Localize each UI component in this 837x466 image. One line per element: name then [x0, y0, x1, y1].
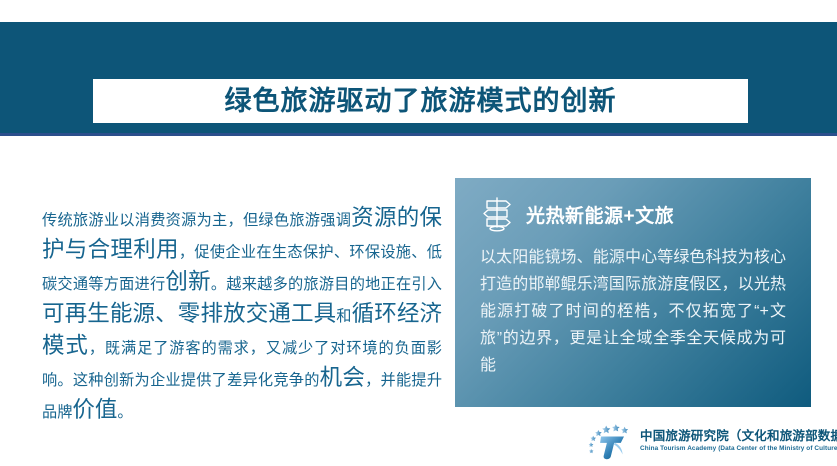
feature-card-header: 光热新能源+文旅 — [480, 196, 674, 232]
china-tourism-academy-logo-icon — [588, 420, 632, 462]
footer-logo: 中国旅游研究院（文化和旅游部数据中心） China Tourism Academ… — [588, 419, 828, 463]
feature-card-title: 光热新能源+文旅 — [526, 201, 674, 228]
emphasis-text: 可再生能源、零排放交通工具 — [42, 301, 336, 326]
left-body-paragraph: 传统旅游业以消费资源为主，但绿色旅游强调资源的保护与合理利用，促使企业在生态保护… — [42, 203, 442, 427]
body-text: 传统旅游业以消费资源为主，但绿色旅游强调 — [42, 212, 351, 229]
emphasis-text: 价值 — [72, 397, 117, 422]
header-band: 绿色旅游驱动了旅游模式的创新 — [0, 22, 837, 136]
page-title: 绿色旅游驱动了旅游模式的创新 — [225, 88, 617, 115]
body-text: 和 — [336, 308, 351, 325]
body-text: 。 — [117, 404, 132, 421]
organization-name-en: China Tourism Academy (Data Center of th… — [640, 444, 837, 454]
organization-name-cn: 中国旅游研究院（文化和旅游部数据中心） — [640, 429, 837, 444]
emphasis-text: 创新 — [165, 269, 210, 294]
signpost-icon — [480, 196, 514, 232]
feature-card: 光热新能源+文旅 以太阳能镜场、能源中心等绿色科技为核心打造的邯郸鲲乐湾国际旅游… — [455, 178, 811, 407]
body-text: 。越来越多的旅游目的地正在引入 — [211, 276, 442, 293]
feature-card-body: 以太阳能镜场、能源中心等绿色科技为核心打造的邯郸鲲乐湾国际旅游度假区，以光热能源… — [480, 244, 786, 379]
emphasis-text: 机会 — [320, 365, 365, 390]
logo-text-wrap: 中国旅游研究院（文化和旅游部数据中心） China Tourism Academ… — [640, 429, 837, 454]
slide-title-box: 绿色旅游驱动了旅游模式的创新 — [93, 79, 748, 123]
